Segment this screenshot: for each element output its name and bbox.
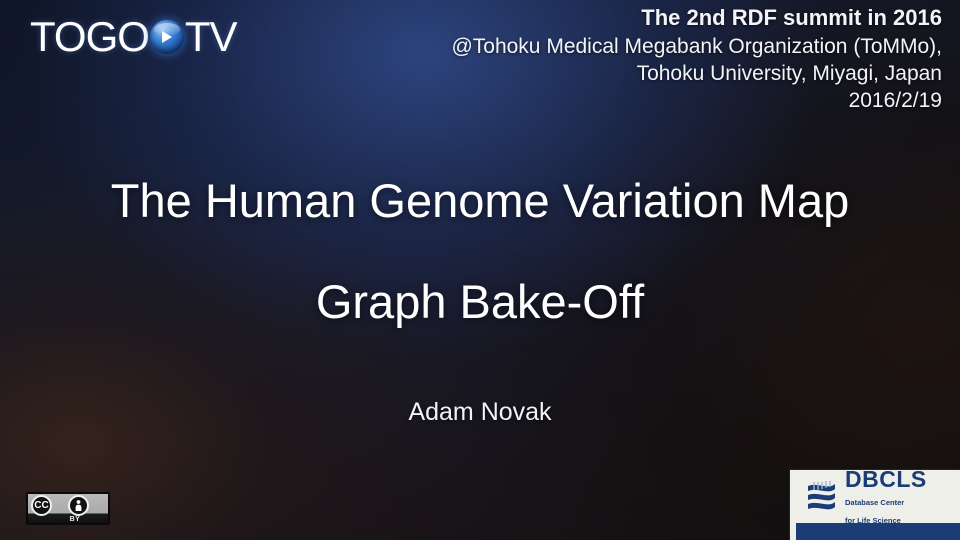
- dbcls-accent-bar: [796, 523, 960, 540]
- logo-text-tv: TV: [185, 16, 237, 58]
- togotv-logo: TOGO TV: [30, 12, 237, 62]
- event-venue-location: Tohoku University, Miyagi, Japan: [451, 60, 942, 87]
- dbcls-tagline: Database Center for Life Science: [845, 498, 904, 525]
- slide-canvas: TOGO TV The 2nd RDF summit in 2016 @Toho…: [0, 0, 960, 540]
- event-title: The 2nd RDF summit in 2016: [451, 4, 942, 33]
- attribution-person-icon: [68, 495, 89, 516]
- play-icon: [150, 20, 184, 54]
- event-venue-organization: @Tohoku Medical Megabank Organization (T…: [451, 33, 942, 60]
- logo-text-togo: TOGO: [30, 16, 149, 58]
- dbcls-logo-row: DBCLS Database Center for Life Science: [790, 470, 960, 518]
- dbcls-tagline-line1: Database Center: [845, 498, 904, 507]
- dbcls-name: DBCLS: [845, 470, 927, 492]
- page-title: The Human Genome Variation Map Graph Bak…: [0, 172, 960, 331]
- cc-by-label: BY: [28, 516, 108, 523]
- dbcls-logo-panel[interactable]: DBCLS Database Center for Life Science: [790, 470, 960, 540]
- creative-commons-by-badge[interactable]: CC BY: [26, 492, 110, 525]
- cc-badge-inner: CC BY: [28, 494, 108, 523]
- event-date: 2016/2/19: [451, 87, 942, 114]
- dbcls-wordmark: DBCLS Database Center for Life Science: [845, 470, 960, 528]
- dbcls-dna-icon: [804, 478, 838, 518]
- title-line-2: Graph Bake-Off: [0, 273, 960, 330]
- title-line-1: The Human Genome Variation Map: [0, 172, 960, 229]
- event-header: The 2nd RDF summit in 2016 @Tohoku Medic…: [451, 4, 942, 114]
- creative-commons-icon: CC: [31, 495, 52, 516]
- author-name: Adam Novak: [0, 398, 960, 427]
